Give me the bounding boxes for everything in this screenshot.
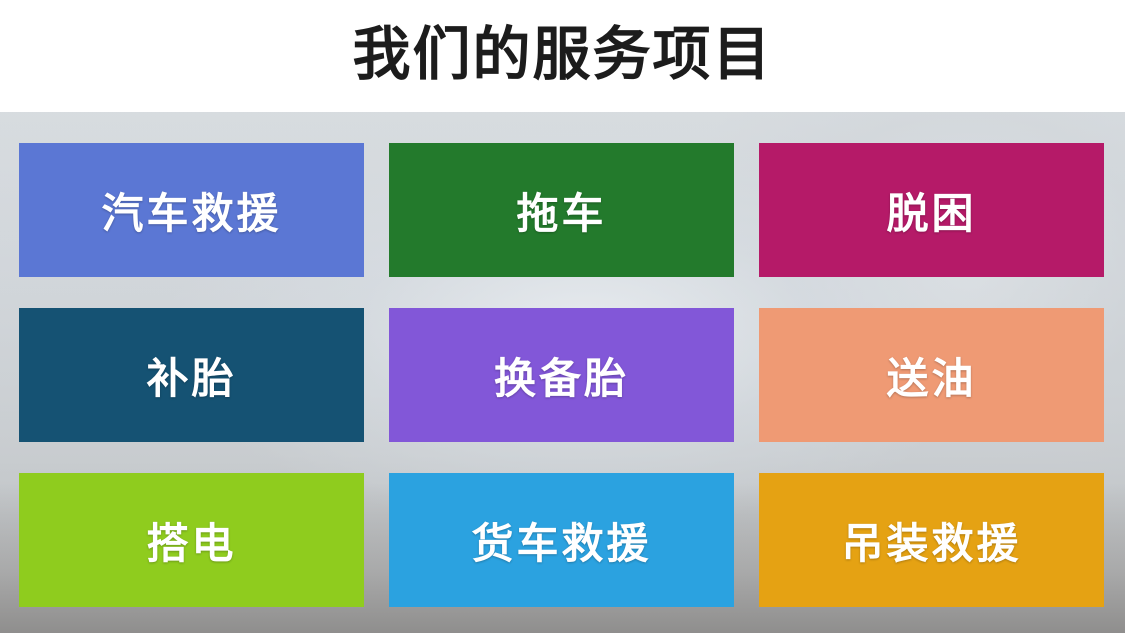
service-tile-crane-rescue[interactable]: 吊装救援 xyxy=(759,473,1104,607)
service-tile-label: 吊装救援 xyxy=(841,510,1021,571)
page-title: 我们的服务项目 xyxy=(0,22,1125,88)
service-tile-label: 送油 xyxy=(886,345,976,406)
service-tile-label: 汽车救援 xyxy=(101,180,281,241)
service-tile-label: 换备胎 xyxy=(494,345,629,406)
service-tile-label: 补胎 xyxy=(146,345,236,406)
service-tile-label: 搭电 xyxy=(146,510,236,571)
service-tile-extrication[interactable]: 脱困 xyxy=(759,143,1104,277)
service-tile-roadside-assistance[interactable]: 汽车救援 xyxy=(19,143,364,277)
service-tile-label: 拖车 xyxy=(516,180,606,241)
service-tile-fuel-delivery[interactable]: 送油 xyxy=(759,308,1104,442)
service-tile-tire-repair[interactable]: 补胎 xyxy=(19,308,364,442)
service-grid: 汽车救援 拖车 脱困 补胎 换备胎 送油 搭电 货车救援 吊装救援 xyxy=(19,143,1107,606)
service-tile-jump-start[interactable]: 搭电 xyxy=(19,473,364,607)
service-tile-spare-tire-change[interactable]: 换备胎 xyxy=(389,308,734,442)
service-tile-towing[interactable]: 拖车 xyxy=(389,143,734,277)
service-poster: 我们的服务项目 汽车救援 拖车 脱困 补胎 换备胎 送油 搭电 货车救援 吊装救… xyxy=(0,0,1125,633)
service-tile-label: 货车救援 xyxy=(471,510,651,571)
service-tile-truck-rescue[interactable]: 货车救援 xyxy=(389,473,734,607)
service-tile-label: 脱困 xyxy=(886,180,976,241)
